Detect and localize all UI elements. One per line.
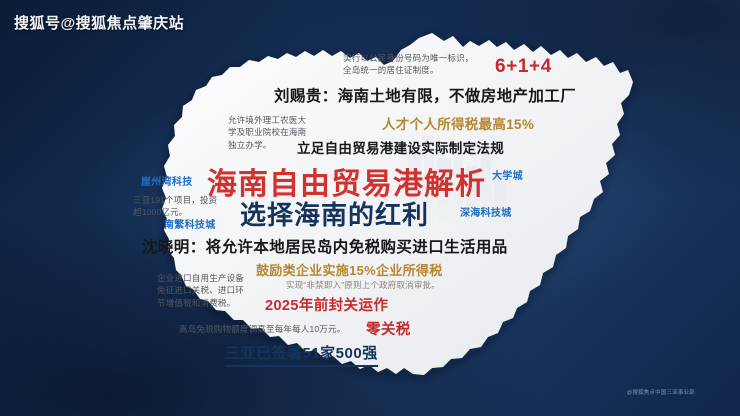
- sanya-fortune500-label: 三亚已签署51家500强: [225, 345, 378, 367]
- id-policy-note: 实行以公民身份号码为唯一标识， 全岛统一的居住证制度。: [343, 52, 493, 77]
- sanya-projects-note-line2: 超1000亿元。: [133, 206, 245, 218]
- free-trade-law-headline: 立足自由贸易港建设实际制定法规: [297, 141, 504, 158]
- encouraged-enterprise-tax-label: 鼓励类企业实施15%企业所得税: [256, 263, 443, 279]
- import-equipment-note-line1: 企业进口自用生产设备: [157, 272, 267, 284]
- sanya-projects-note: 三亚191个项目，投资 超1000亿元。: [133, 194, 245, 219]
- id-policy-note-line1: 实行以公民身份号码为唯一标识，: [343, 52, 493, 64]
- closure-2025-label: 2025年前封关运作: [265, 297, 388, 315]
- tag-university-town: 大学城: [492, 171, 523, 184]
- duty-free-quota-note: 离岛免税购物额度调高至每年每人10万元。: [179, 323, 345, 335]
- main-title: 海南自由贸易港解析: [207, 166, 486, 204]
- label-layer: 实行以公民身份号码为唯一标识， 全岛统一的居住证制度。 6+1+4 刘赐贵：海南…: [0, 0, 740, 416]
- overseas-university-note-line1: 允许境外理工农医大: [228, 114, 340, 126]
- sanya-projects-note-line1: 三亚191个项目，投资: [133, 194, 245, 206]
- import-equipment-note-line2: 免征进口关税、进口环: [157, 284, 267, 296]
- import-equipment-note-line3: 节增值税和消费税。: [157, 297, 267, 309]
- sohu-watermark: 搜狐号@搜狐焦点肇庆站: [14, 12, 184, 33]
- tag-nanfan-science-city: 南繁科技城: [164, 220, 216, 233]
- liu-cigui-headline: 刘赐贵：海南土地有限，不做房地产加工厂: [274, 87, 576, 106]
- shen-xiaoming-headline: 沈晓明：将允许本地居民岛内免税购买进口生活用品: [142, 238, 508, 257]
- sub-title: 选择海南的红利: [240, 199, 429, 232]
- overseas-university-note-line2: 学及职业院校在海南: [228, 126, 340, 138]
- non-prohibited-entry-note: 实现“非禁即入”原则上个政府取消审批。: [286, 280, 440, 291]
- infographic-canvas: 搜狐号@搜狐焦点肇庆站 实行以公民身份号码为唯一标识， 全岛统一的居住证制度。 …: [0, 0, 740, 416]
- six-one-four-label: 6+1+4: [495, 55, 552, 79]
- tag-yazhou-bay-science: 崖州湾科技: [141, 177, 193, 190]
- id-policy-note-line2: 全岛统一的居住证制度。: [343, 64, 493, 76]
- talent-income-tax-label: 人才个人所得税最高15%: [382, 117, 534, 134]
- source-credit: @搜狐焦点中国三亚事业部: [627, 388, 695, 396]
- zero-tariff-label: 零关税: [366, 321, 411, 339]
- tag-deepsea-science-city: 深海科技城: [460, 208, 512, 221]
- import-equipment-note: 企业进口自用生产设备 免征进口关税、进口环 节增值税和消费税。: [157, 272, 267, 309]
